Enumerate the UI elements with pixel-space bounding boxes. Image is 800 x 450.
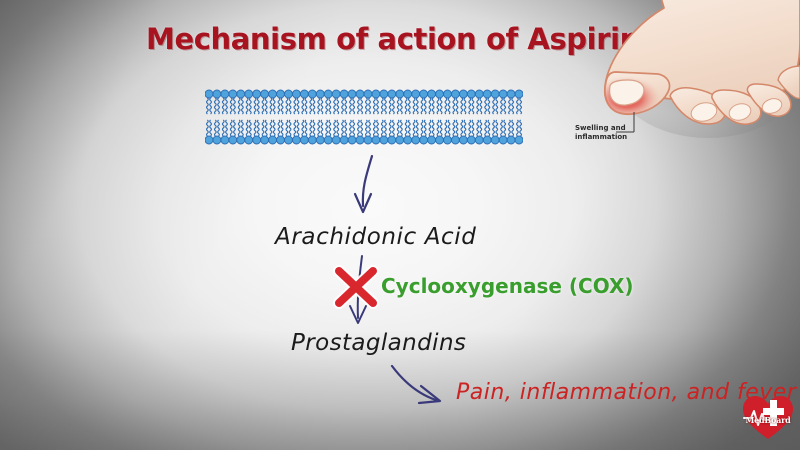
step-label-arachidonic-acid: Arachidonic Acid [275, 224, 476, 250]
foot-caption-line-1: Swelling and [575, 124, 637, 133]
phospholipid-bilayer [205, 88, 523, 146]
inflamed-big-toe-illustration [570, 0, 800, 172]
page-title: Mechanism of action of Aspirin [146, 22, 640, 56]
foot-caption: Swelling and inflammation [575, 124, 637, 142]
enzyme-label-cyclooxygenase: Cyclooxygenase (COX) [381, 274, 634, 298]
step-label-prostaglandins: Prostaglandins [291, 330, 466, 356]
foot-caption-line-2: inflammation [575, 133, 637, 142]
slide-canvas: Mechanism of action of Aspirin [0, 0, 800, 450]
logo-wordmark: MedBoard [744, 415, 792, 425]
